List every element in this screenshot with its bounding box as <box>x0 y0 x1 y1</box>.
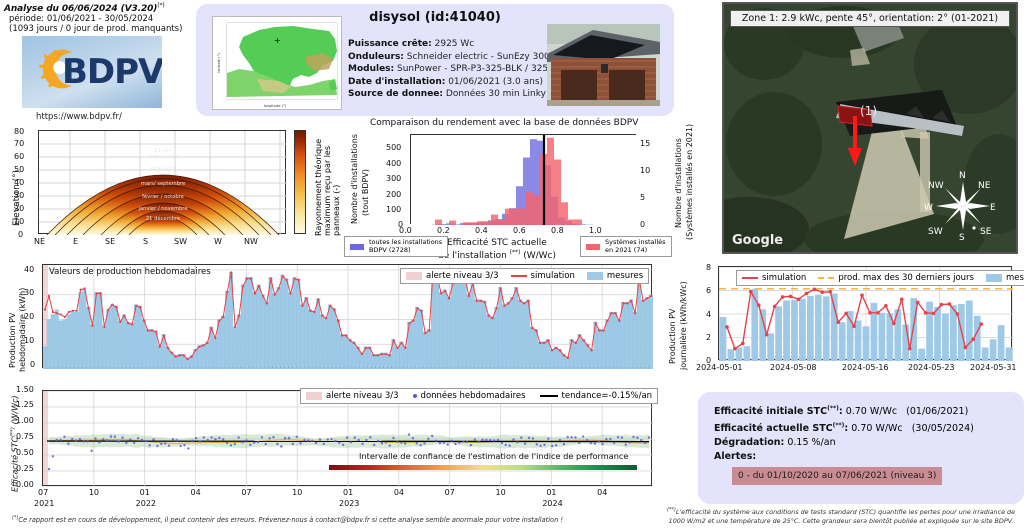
sunpath-xtick: S <box>143 237 148 246</box>
weekly-legend: alerte niveau 3/3 simulation mesures <box>400 268 649 284</box>
sunpath-ytick: 70 <box>14 139 24 148</box>
daily-ytick: 2 <box>706 333 711 342</box>
legend-swatch-alert <box>406 272 422 280</box>
report-header: Analyse du 06/06/2024 (V3.20)(*) période… <box>4 2 204 34</box>
spec-value: Données 30 min Linky <box>446 89 546 99</box>
efficiency-ytick: 1.00 <box>16 416 34 425</box>
legend-item-alert: alerte niveau 3/3 <box>406 271 499 281</box>
legend-item-measures: mesures <box>587 271 643 281</box>
stc-efficiency-chart: Efficacité STC(**) (W/Wc) Intervalle de … <box>2 388 658 518</box>
weekly-production-chart: Production PV hebdomadaire (kWh) Valeurs… <box>2 260 658 388</box>
histogram-title: Comparaison du rendement avec la base de… <box>370 118 638 128</box>
spec-key: Date d'installation: <box>348 77 445 87</box>
histogram-plot-area <box>410 134 636 224</box>
legend-item-alert: alerte niveau 3/3 <box>306 391 399 401</box>
spec-key: Puissance crête: <box>348 39 432 49</box>
zone-number-label: (1) <box>860 104 877 118</box>
sunpath-xtick: SE <box>105 237 115 246</box>
weekly-ylabel-1: Production PV <box>8 313 17 368</box>
daily-legend: simulation prod. max des 30 derniers jou… <box>736 270 1024 286</box>
map-ylabel: latitude (°) <box>217 53 221 73</box>
page-title-footnote-ref: (*) <box>157 2 164 9</box>
sunpath-ytick: 0 <box>18 230 23 239</box>
map-xlabel: longitude (°) <box>264 104 287 108</box>
histogram-ylabel-right-2: (Systèmes installés en 2021) <box>685 124 694 240</box>
daily-ylabel-1: Production PV <box>668 309 677 364</box>
summary-row: Alertes: <box>714 450 974 464</box>
daily-ytick: 4 <box>706 310 711 319</box>
sunpath-curve-label: janvier / novembre <box>137 206 187 212</box>
legend-label-simulation: simulation <box>762 273 806 283</box>
spec-row: Modules: SunPower - SPR-P3-325-BLK / 325… <box>348 63 557 76</box>
summary-row: Dégradation: 0.15 %/an <box>714 436 974 450</box>
installation-photo <box>547 24 660 106</box>
efficiency-xtick: 10 <box>292 488 302 497</box>
sunpath-ytick: 80 <box>14 127 24 136</box>
sunpath-plot-area: 21 juin mai / juillet avril / août mars/… <box>38 130 286 234</box>
spec-value: Schneider electric - SunEzy 3000 <box>407 52 556 62</box>
legend-label-all-bdpv: toutes les installationsBDPV (2728) <box>369 239 442 254</box>
sunpath-ytick: 30 <box>14 191 24 200</box>
weekly-ytick: 40 <box>24 265 34 274</box>
satellite-view[interactable]: Zone 1: 2.9 kWc, pente 45°, orientation:… <box>722 2 1018 254</box>
france-location-map: + longitude (°) latitude (°) <box>212 16 342 110</box>
svg-text:NW: NW <box>928 181 944 191</box>
histogram-legend-red: Systèmes installésen 2021 (74) <box>580 236 672 257</box>
histogram-xtick: 0.0 <box>399 226 412 235</box>
sunpath-colorbar-label: Rayonnement théorique maximum reçu par l… <box>314 128 341 236</box>
sunpath-ytick: 60 <box>14 152 24 161</box>
legend-label-weekly-data: données hebdomadaires <box>421 391 526 401</box>
daily-ytick: 6 <box>706 286 711 295</box>
daily-production-chart: Production PV journalière (kWh/kWc) 0 2 … <box>660 260 1022 388</box>
efficiency-plot-area: Intervalle de confiance de l'estimation … <box>42 390 652 486</box>
legend-label-2021: Systèmes installésen 2021 (74) <box>605 239 666 254</box>
legend-item-measures: mesures <box>986 273 1024 283</box>
daily-xtick: 2024-05-08 <box>770 363 817 372</box>
efficiency-xtick: 07 <box>241 488 251 497</box>
bdpv-logo: BDPV <box>22 36 162 108</box>
legend-label-alert: alerte niveau 3/3 <box>326 391 399 401</box>
spec-key: Source de donnee: <box>348 89 443 99</box>
summary-row: Efficacité initiale STC(**): 0.70 W/Wc (… <box>714 402 974 419</box>
summary-value: 0.70 W/Wc (30/05/2024) <box>851 423 974 434</box>
spec-row: Puissance crête: 2925 Wc <box>348 38 557 51</box>
legend-swatch-simulation <box>742 277 758 279</box>
efficiency-ytick: 0.00 <box>16 480 34 489</box>
histogram-xtick: 0.2 <box>437 226 450 235</box>
sunpath-xtick: NE <box>34 237 45 246</box>
histogram-ytick-left: 400 <box>386 159 401 168</box>
svg-text:NE: NE <box>978 181 991 191</box>
efficiency-xtick: 01 <box>140 488 150 497</box>
sunpath-xtick: SW <box>174 237 187 246</box>
footnote-left-text: Ce rapport est en cours de développement… <box>18 516 563 524</box>
summary-key: Dégradation: <box>714 437 784 448</box>
histogram-ylabel-left: Nombre d'installations <box>350 134 359 224</box>
satellite-zone-caption: Zone 1: 2.9 kWc, pente 45°, orientation:… <box>730 10 1010 27</box>
efficiency-summary-panel: Efficacité initiale STC(**): 0.70 W/Wc (… <box>698 392 1024 504</box>
sunpath-curve-label: mars/ septembre <box>141 181 185 187</box>
spec-row: Date d'installation: 01/06/2021 (3.0 ans… <box>348 76 557 89</box>
summary-value: 0.70 W/Wc (01/06/2021) <box>846 406 969 417</box>
efficiency-xtick: 04 <box>394 488 404 497</box>
sunpath-ytick: 20 <box>14 204 24 213</box>
sunpath-xtick: E <box>73 237 78 246</box>
spec-row: Onduleurs: Schneider electric - SunEzy 3… <box>348 51 557 64</box>
bdpv-logo-text: BDPV <box>62 52 162 92</box>
svg-text:E: E <box>990 203 996 213</box>
svg-text:N: N <box>959 171 966 181</box>
sunpath-svg: 21 juin mai / juillet avril / août mars/… <box>39 131 287 235</box>
report-page: Analyse du 06/06/2024 (V3.20)(*) période… <box>0 0 1024 530</box>
legend-swatch-all-bdpv <box>350 244 364 250</box>
legend-swatch-measures <box>587 272 603 280</box>
page-title: Analyse du 06/06/2024 (V3.20)(*) <box>4 2 204 14</box>
bdpv-url[interactable]: https://www.bdpv.fr/ <box>36 112 122 122</box>
histogram-ytick-right: 0 <box>640 220 645 229</box>
daily-ytick: 8 <box>706 263 711 272</box>
spec-value: SunPower - SPR-P3-325-BLK / 325W <box>397 64 557 74</box>
efficiency-xtick: 04 <box>191 488 201 497</box>
sunpath-ytick: 50 <box>14 165 24 174</box>
svg-text:W: W <box>924 203 933 213</box>
spec-value: 01/06/2021 (3.0 ans) <box>448 77 543 87</box>
confidence-interval-bar <box>329 465 637 470</box>
efficiency-xtick: 10 <box>496 488 506 497</box>
weekly-ytick: 10 <box>24 336 34 345</box>
weekly-title: Valeurs de production hebdomadaires <box>49 267 211 277</box>
spec-value: 2925 Wc <box>435 39 475 49</box>
legend-swatch-alert <box>306 392 322 400</box>
footnote-right-text: L'efficacité du système aux conditions d… <box>669 508 1015 525</box>
sunpath-curve-label: 21 décembre <box>146 215 180 222</box>
report-days: (1093 jours / 0 jour de prod. manquants) <box>4 24 204 34</box>
histogram-svg <box>411 135 637 225</box>
efficiency-xtick: 07 <box>38 488 48 497</box>
legend-swatch-2021 <box>586 244 600 250</box>
report-period: période: 01/06/2021 - 30/05/2024 <box>4 14 204 24</box>
legend-label-measures: mesures <box>1006 273 1024 283</box>
legend-swatch-max-prod <box>818 277 834 279</box>
sunpath-ytick: 10 <box>14 217 24 226</box>
legend-label-simulation: simulation <box>531 271 575 281</box>
sunpath-curve-label: mai / juillet <box>149 154 178 160</box>
efficiency-xtick-year: 2022 <box>136 499 156 508</box>
installation-info-panel: disysol (id:41040) + longitude (°) latit… <box>196 4 674 116</box>
legend-label-measures: mesures <box>607 271 643 281</box>
efficiency-ytick: 0.25 <box>16 464 34 473</box>
sunpath-xtick: NW <box>244 237 258 246</box>
svg-text:+: + <box>274 36 281 45</box>
legend-swatch-measures <box>986 274 1002 282</box>
sun-path-chart: Elevation (°) <box>2 126 340 258</box>
sunpath-xtick: W <box>214 237 222 246</box>
footnote-left: (*)Ce rapport est en cours de développem… <box>12 515 563 524</box>
legend-item-trend: tendance=-0.15%/an <box>540 391 653 401</box>
daily-xtick: 2024-05-31 <box>970 363 1017 372</box>
summary-rows: Efficacité initiale STC(**): 0.70 W/Wc (… <box>714 402 974 485</box>
efficiency-xtick: 10 <box>89 488 99 497</box>
svg-text:SE: SE <box>980 227 992 237</box>
svg-text:S: S <box>959 233 965 242</box>
daily-xtick: 2024-05-01 <box>696 363 743 372</box>
efficiency-xtick: 01 <box>343 488 353 497</box>
daily-xtick: 2024-05-16 <box>842 363 889 372</box>
summary-key: Efficacité actuelle STC(**): <box>714 423 848 434</box>
efficiency-legend: alerte niveau 3/3 données hebdomadaires … <box>300 388 658 404</box>
daily-xtick: 2024-05-23 <box>908 363 955 372</box>
efficiency-xtick: 01 <box>546 488 556 497</box>
histogram-xlabel-line1: Efficacité STC actuelle <box>447 238 547 248</box>
spec-row: Source de donnee: Données 30 min Linky <box>348 88 557 101</box>
efficiency-xtick: 04 <box>597 488 607 497</box>
efficiency-xtick-year: 2024 <box>542 499 562 508</box>
efficiency-xtick-year: 2023 <box>339 499 359 508</box>
efficiency-ytick: 1.50 <box>16 385 34 394</box>
sunpath-ytick: 40 <box>14 178 24 187</box>
summary-value: 0.15 %/an <box>787 437 835 448</box>
efficiency-ylabel: Efficacité STC(**) (W/Wc) <box>10 395 20 492</box>
legend-item-weekly-data: données hebdomadaires <box>413 391 526 401</box>
efficiency-histogram-chart: Comparaison du rendement avec la base de… <box>342 116 692 260</box>
weekly-ylabel-2: hebdomadaire (kWh) <box>18 288 27 372</box>
histogram-xtick: 0.6 <box>513 226 526 235</box>
histogram-xtick: 0.4 <box>475 226 488 235</box>
histogram-ytick-left: 200 <box>386 190 401 199</box>
summary-key: Efficacité initiale STC(**): <box>714 406 843 417</box>
installation-specs: Puissance crête: 2925 Wc Onduleurs: Schn… <box>348 38 557 101</box>
efficiency-annotation: Intervalle de confiance de l'estimation … <box>359 451 628 461</box>
daily-ylabel-2: journalière (kWh/kWc) <box>679 281 688 370</box>
histogram-ytick-right: 15 <box>640 139 650 148</box>
histogram-ytick-right: 10 <box>640 166 650 175</box>
histogram-ytick-right: 5 <box>640 193 645 202</box>
legend-label-alert: alerte niveau 3/3 <box>426 271 499 281</box>
legend-label-trend: tendance=-0.15%/an <box>562 391 653 401</box>
sunpath-colorbar <box>294 130 306 234</box>
spec-key: Onduleurs: <box>348 52 404 62</box>
histogram-ytick-left: 300 <box>386 174 401 183</box>
legend-swatch-trend <box>540 395 558 397</box>
sunpath-curve-label: février / octobre <box>142 193 184 200</box>
map-svg: + longitude (°) latitude (°) <box>213 17 342 110</box>
histogram-xtick: 1.0 <box>589 226 602 235</box>
weekly-ytick: 0 <box>30 360 35 369</box>
compass-rose-icon: N NE E SE S SW W NW <box>918 164 1008 242</box>
legend-item-simulation: simulation <box>742 273 806 283</box>
efficiency-svg <box>43 391 653 487</box>
efficiency-ytick: 0.50 <box>16 448 34 457</box>
google-attribution: Google <box>732 233 783 248</box>
legend-label-max-prod: prod. max des 30 derniers jours <box>838 273 974 283</box>
efficiency-xtick-year: 2021 <box>34 499 54 508</box>
svg-text:SW: SW <box>928 227 943 237</box>
histogram-ylabel-right: Nombre d'installations <box>674 138 683 228</box>
page-title-text: Analyse du 06/06/2024 (V3.20) <box>4 4 157 14</box>
footnote-right-ref: (**) <box>667 507 676 513</box>
house-photo-svg <box>547 24 660 106</box>
histogram-ytick-left: 500 <box>386 143 401 152</box>
summary-key: Alertes: <box>714 451 756 462</box>
weekly-ytick: 20 <box>24 312 34 321</box>
legend-item-max-prod: prod. max des 30 derniers jours <box>818 273 974 283</box>
histogram-ytick-left: 100 <box>386 205 401 214</box>
legend-item-simulation: simulation <box>511 271 575 281</box>
histogram-xtick: 0.8 <box>551 226 564 235</box>
footnote-right: (**)L'efficacité du système aux conditio… <box>658 506 1024 526</box>
alert-badge[interactable]: 0 - du 01/10/2020 au 07/06/2021 (niveau … <box>732 467 942 485</box>
efficiency-ytick: 0.75 <box>16 432 34 441</box>
sunpath-curve-label: avril / août <box>149 165 177 172</box>
spec-key: Modules: <box>348 64 394 74</box>
legend-swatch-weekly-data <box>413 394 417 398</box>
weekly-ytick: 30 <box>24 288 34 297</box>
histogram-legend-blue: toutes les installationsBDPV (2728) <box>344 236 448 257</box>
histogram-ylabel-left-2: (tout BDPV) <box>361 169 370 216</box>
efficiency-xtick: 07 <box>445 488 455 497</box>
summary-row: Efficacité actuelle STC(**): 0.70 W/Wc (… <box>714 419 974 436</box>
legend-swatch-simulation <box>511 275 527 277</box>
efficiency-ytick: 1.25 <box>16 400 34 409</box>
